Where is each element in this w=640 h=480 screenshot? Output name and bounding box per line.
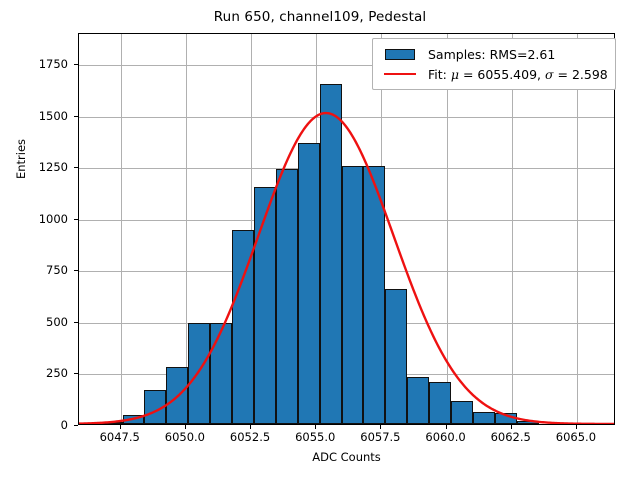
x-axis-tick-label: 6065.0 — [556, 430, 596, 444]
gaussian-fit-curve — [79, 34, 614, 424]
x-axis-tick — [576, 425, 577, 429]
legend-label-samples: Samples: RMS=2.61 — [428, 47, 555, 62]
y-axis-tick — [74, 270, 78, 271]
y-axis-tick-label: 1000 — [0, 212, 68, 226]
y-axis-tick-label: 1750 — [0, 57, 68, 71]
y-axis-tick — [74, 425, 78, 426]
x-axis-tick — [315, 425, 316, 429]
x-axis-tick-label: 6060.0 — [425, 430, 465, 444]
legend-line-icon — [380, 73, 420, 75]
x-axis-tick-label: 6062.5 — [491, 430, 531, 444]
y-axis-tick-label: 0 — [0, 418, 68, 432]
y-axis-tick — [74, 322, 78, 323]
y-axis-tick-label: 500 — [0, 315, 68, 329]
y-axis-tick-label: 1250 — [0, 160, 68, 174]
y-axis-tick — [74, 219, 78, 220]
x-axis-tick — [446, 425, 447, 429]
x-axis-tick-label: 6055.0 — [295, 430, 335, 444]
y-axis-tick — [74, 64, 78, 65]
y-axis-tick — [74, 373, 78, 374]
x-axis-tick-label: 6050.0 — [165, 430, 205, 444]
x-axis-tick — [511, 425, 512, 429]
legend-item-samples: Samples: RMS=2.61 — [380, 44, 608, 64]
legend-label-fit: Fit: μ = 6055.409, σ = 2.598 — [428, 67, 608, 82]
x-axis-tick — [185, 425, 186, 429]
y-axis-label: Entries — [14, 59, 28, 259]
x-axis-tick — [380, 425, 381, 429]
page-title: Run 650, channel109, Pedestal — [0, 9, 640, 25]
x-axis-label: ADC Counts — [78, 450, 615, 464]
y-axis-tick — [74, 116, 78, 117]
y-axis-tick — [74, 167, 78, 168]
legend-patch-icon — [380, 49, 420, 60]
y-axis-tick-label: 250 — [0, 366, 68, 380]
legend: Samples: RMS=2.61 Fit: μ = 6055.409, σ =… — [372, 38, 616, 90]
y-axis-tick-label: 1500 — [0, 109, 68, 123]
x-axis-tick-label: 6057.5 — [360, 430, 400, 444]
legend-item-fit: Fit: μ = 6055.409, σ = 2.598 — [380, 64, 608, 84]
x-axis-tick — [250, 425, 251, 429]
x-axis-tick-label: 6047.5 — [100, 430, 140, 444]
plot-area — [78, 33, 615, 425]
x-axis-tick-label: 6052.5 — [230, 430, 270, 444]
matplotlib-figure: Run 650, channel109, Pedestal 6047.56050… — [0, 0, 640, 480]
x-axis-tick — [120, 425, 121, 429]
y-axis-tick-label: 750 — [0, 263, 68, 277]
